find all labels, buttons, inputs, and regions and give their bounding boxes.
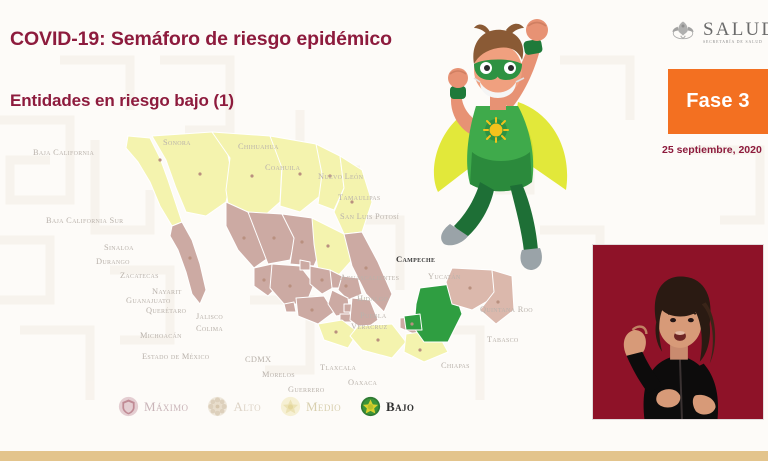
map-label: Puebla [360,311,386,320]
map-label: Durango [96,257,130,266]
legend-item-maximo[interactable]: Máximo [118,396,188,417]
map-label: Jalisco [196,312,223,321]
map-label: Michoacán [140,331,182,340]
map-label: Aguascalientes [340,273,399,282]
legend-item-medio[interactable]: Medio [280,396,341,417]
phase-badge-label: Fase 3 [686,90,749,113]
map-label: Tamaulipas [338,193,381,202]
legend-label-bajo: Bajo [386,399,414,415]
map-label: Veracruz [351,322,387,331]
page-title: COVID-19: Semáforo de riesgo epidémico [10,28,392,51]
map-label: San Luis Potosí [340,212,399,221]
map-label: Hidalgo [357,294,388,303]
legend-item-bajo[interactable]: Bajo [360,396,414,417]
risk-legend: Máximo Alto Medio [118,396,414,417]
map-label: Querétaro [146,306,186,315]
map-label: Guerrero [288,385,324,394]
map-label: Guanajuato [126,296,171,305]
legend-item-alto[interactable]: Alto [207,396,261,417]
legend-label-medio: Medio [306,399,341,415]
map-label: Oaxaca [348,378,377,387]
map-label: Nayarit [152,287,182,296]
legend-label-maximo: Máximo [144,399,188,415]
date-label: 25 septiembre, 2020 [662,144,762,156]
slide-root: COVID-19: Semáforo de riesgo epidémico E… [0,0,768,473]
salud-logo-subtext: SECRETARÍA DE SALUD [703,41,768,45]
phase-badge: Fase 3 [668,69,768,134]
mexico-coat-of-arms-icon [668,17,698,47]
map-label: Morelos [262,370,295,379]
map-label: Baja California [33,148,94,157]
map-label: Estado de México [142,352,209,361]
gear-flower-icon [207,396,228,417]
map-label: Sinaloa [104,243,134,252]
superhero-mascot [406,2,596,282]
star-flower-icon [280,396,301,417]
map-label: Chiapas [441,361,470,370]
salud-logo: SALUD SECRETARÍA DE SALUD [668,17,768,47]
map-label: Quintana Roo [480,305,533,314]
map-label: Tlaxcala [320,363,356,372]
map-label: Baja California Sur [46,216,123,225]
map-label: Chihuahua [238,142,279,151]
map-label: CDMX [245,355,271,364]
salud-logo-text: SALUD [703,20,768,39]
page-subtitle: Entidades en riesgo bajo (1) [10,91,234,111]
legend-label-alto: Alto [233,399,261,415]
map-label: Sonora [163,138,191,147]
green-star-icon [360,396,381,417]
map-label: Tabasco [487,335,519,344]
map-label: Zacatecas [120,271,159,280]
map-label: Coahuila [265,163,300,172]
sign-language-interpreter-panel [592,244,764,420]
map-label: Colima [196,324,223,333]
bottom-white-bar [0,461,768,473]
shield-icon [118,396,139,417]
map-label: Nuevo León [318,172,363,181]
bottom-gold-bar [0,451,768,461]
